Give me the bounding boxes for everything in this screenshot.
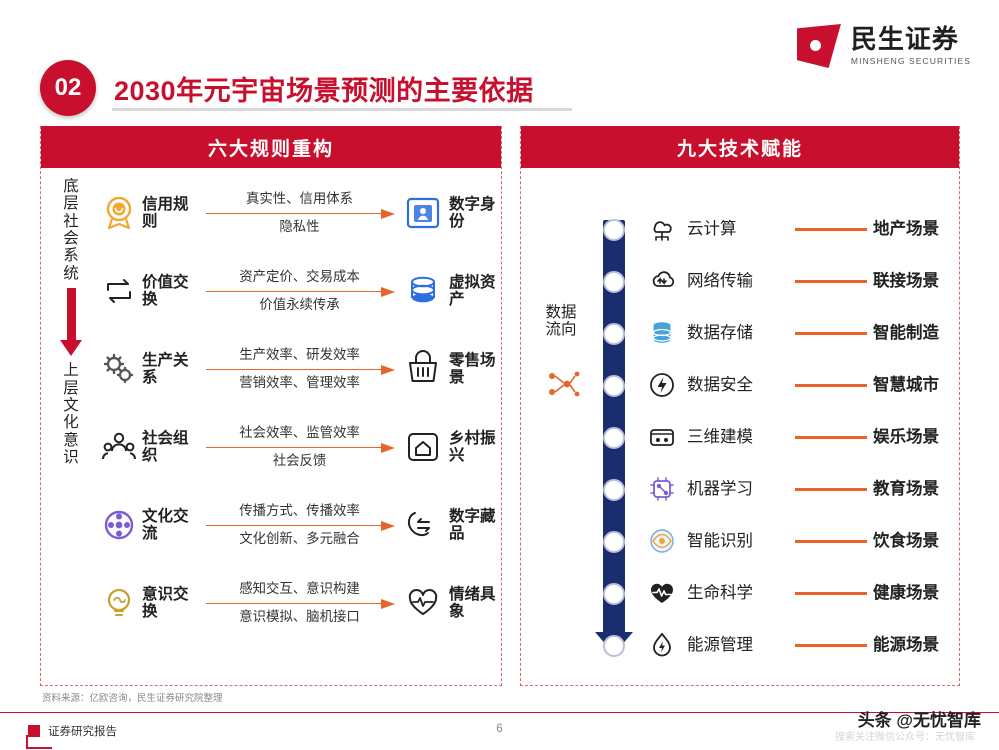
arrow-icon xyxy=(204,599,395,608)
rule-output-name: 乡村振兴 xyxy=(449,430,497,465)
basket-icon xyxy=(401,349,445,389)
connector-line xyxy=(795,332,867,335)
scene-name: 能源场景 xyxy=(873,631,939,655)
rule-name: 意识交换 xyxy=(142,586,198,621)
connector-line xyxy=(795,436,867,439)
connector-line xyxy=(795,228,867,231)
connector-line xyxy=(795,280,867,283)
arrow-icon xyxy=(204,365,395,374)
rule-detail: 真实性、信用体系 隐私性 xyxy=(198,191,401,236)
scene-name: 联接场景 xyxy=(873,267,939,291)
rule-detail: 资产定价、交易成本 价值永续传承 xyxy=(198,269,401,314)
technology-list: 云计算 地产场景 网络传输 联接场景 xyxy=(521,204,959,672)
title-underline xyxy=(112,108,572,111)
rule-row: 意识交换 感知交互、意识构建 意识模拟、脑机接口 情绪具象 xyxy=(99,564,497,642)
technology-name: 数据存储 xyxy=(687,319,753,343)
rule-name: 信用规则 xyxy=(142,196,198,231)
digital-id-icon xyxy=(401,193,445,233)
technology-name: 三维建模 xyxy=(687,423,753,447)
rule-detail-bottom: 文化创新、多元融合 xyxy=(204,531,395,548)
home-icon xyxy=(401,427,445,467)
rule-detail: 感知交互、意识构建 意识模拟、脑机接口 xyxy=(198,581,401,626)
down-arrow-icon xyxy=(60,288,82,356)
right-panel-heading: 九大技术赋能 xyxy=(521,126,959,168)
eye-scan-icon xyxy=(645,524,679,558)
database-icon xyxy=(645,316,679,350)
rule-row: 信用规则 真实性、信用体系 隐私性 数字身份 xyxy=(99,174,497,252)
technology-row: 三维建模 娱乐场景 xyxy=(521,412,959,464)
flow-node xyxy=(603,635,625,657)
connector-line xyxy=(795,592,867,595)
rule-row: 文化交流 传播方式、传播效率 文化创新、多元融合 数字藏品 xyxy=(99,486,497,564)
rule-name: 生产关系 xyxy=(142,352,198,387)
connector-line xyxy=(795,540,867,543)
rule-row: 价值交换 资产定价、交易成本 价值永续传承 xyxy=(99,252,497,330)
technology-name: 智能识别 xyxy=(687,527,753,551)
rule-detail-bottom: 社会反馈 xyxy=(204,453,395,470)
rule-output-name: 虚拟资产 xyxy=(449,274,497,309)
left-panel-heading: 六大规则重构 xyxy=(41,126,501,168)
technology-name: 能源管理 xyxy=(687,631,753,655)
shield-bolt-icon xyxy=(645,368,679,402)
source-note: 资料来源：亿欧咨询，民生证券研究院整理 xyxy=(42,690,223,704)
rule-detail: 社会效率、监管效率 社会反馈 xyxy=(198,425,401,470)
heartbeat-icon xyxy=(645,576,679,610)
technology-name: 生命科学 xyxy=(687,579,753,603)
left-panel-body: 底层社会系统 上层文化意识 xyxy=(41,168,501,684)
machine-learning-icon xyxy=(645,472,679,506)
technology-name: 数据安全 xyxy=(687,371,753,395)
technology-row: 机器学习 教育场景 xyxy=(521,464,959,516)
rule-detail: 生产效率、研发效率 营销效率、管理效率 xyxy=(198,347,401,392)
flow-node xyxy=(603,323,625,345)
rule-detail-bottom: 营销效率、管理效率 xyxy=(204,375,395,392)
company-logo: 民生证券 MINSHENG SECURITIES xyxy=(797,24,971,68)
rule-output-name: 数字身份 xyxy=(449,196,497,231)
rule-row: 生产关系 生产效率、研发效率 营销效率、管理效率 零售场景 xyxy=(99,330,497,408)
scene-name: 智慧城市 xyxy=(873,371,939,395)
rule-name: 价值交换 xyxy=(142,274,198,309)
corner-decoration xyxy=(26,735,52,749)
people-icon xyxy=(99,427,139,467)
cloud-compute-icon xyxy=(645,212,679,246)
scene-name: 娱乐场景 xyxy=(873,423,939,447)
rule-detail-top: 感知交互、意识构建 xyxy=(204,581,395,598)
slide-root: 民生证券 MINSHENG SECURITIES 02 2030年元宇宙场景预测… xyxy=(0,0,999,750)
right-panel: 九大技术赋能 数据流向 xyxy=(520,126,960,686)
watermark-sub: 搜索关注微信公众号：无忧智库 xyxy=(835,728,975,743)
rule-detail-bottom: 意识模拟、脑机接口 xyxy=(204,609,395,626)
flow-node xyxy=(603,531,625,553)
brain-bulb-icon xyxy=(99,583,139,623)
rule-detail-top: 真实性、信用体系 xyxy=(204,191,395,208)
rule-output-name: 零售场景 xyxy=(449,352,497,387)
coins-icon xyxy=(401,271,445,311)
axis-top-label: 底层社会系统 xyxy=(61,178,81,282)
3d-model-icon xyxy=(645,420,679,454)
technology-row: 云计算 地产场景 xyxy=(521,204,959,256)
axis-bottom-label: 上层文化意识 xyxy=(61,362,81,466)
left-panel: 六大规则重构 底层社会系统 上层文化意识 xyxy=(40,126,502,686)
rule-row: 社会组织 社会效率、监管效率 社会反馈 乡村振兴 xyxy=(99,408,497,486)
flow-node xyxy=(603,271,625,293)
technology-row: 数据存储 智能制造 xyxy=(521,308,959,360)
logo-text-en: MINSHENG SECURITIES xyxy=(851,56,971,66)
heart-pulse-icon xyxy=(401,583,445,623)
rule-detail-top: 生产效率、研发效率 xyxy=(204,347,395,364)
flow-node xyxy=(603,375,625,397)
flow-node xyxy=(603,479,625,501)
technology-row: 能源管理 能源场景 xyxy=(521,620,959,672)
rule-detail-top: 社会效率、监管效率 xyxy=(204,425,395,442)
scene-name: 智能制造 xyxy=(873,319,939,343)
rule-detail: 传播方式、传播效率 文化创新、多元融合 xyxy=(198,503,401,548)
gears-icon xyxy=(99,349,139,389)
rule-detail-top: 资产定价、交易成本 xyxy=(204,269,395,286)
rule-output-name: 情绪具象 xyxy=(449,586,497,621)
scene-name: 教育场景 xyxy=(873,475,939,499)
energy-drop-icon xyxy=(645,628,679,662)
arrow-icon xyxy=(204,443,395,452)
film-reel-icon xyxy=(99,505,139,545)
rule-detail-bottom: 隐私性 xyxy=(204,219,395,236)
arrow-icon xyxy=(204,521,395,530)
scene-name: 健康场景 xyxy=(873,579,939,603)
medal-icon xyxy=(99,193,139,233)
connector-line xyxy=(795,384,867,387)
minsheng-logo-icon xyxy=(797,24,841,68)
rule-name: 社会组织 xyxy=(142,430,198,465)
technology-row: 网络传输 联接场景 xyxy=(521,256,959,308)
connector-line xyxy=(795,488,867,491)
technology-row: 智能识别 饮食场景 xyxy=(521,516,959,568)
rule-detail-bottom: 价值永续传承 xyxy=(204,297,395,314)
rule-name: 文化交流 xyxy=(142,508,198,543)
cloud-transfer-icon xyxy=(645,264,679,298)
technology-name: 网络传输 xyxy=(687,267,753,291)
rule-detail-top: 传播方式、传播效率 xyxy=(204,503,395,520)
scene-name: 饮食场景 xyxy=(873,527,939,551)
exchange-icon xyxy=(99,271,139,311)
arrow-icon xyxy=(204,209,395,218)
social-system-axis: 底层社会系统 上层文化意识 xyxy=(47,178,95,674)
technology-row: 生命科学 健康场景 xyxy=(521,568,959,620)
section-number-badge: 02 xyxy=(40,60,96,116)
connector-line xyxy=(795,644,867,647)
logo-text-cn: 民生证券 xyxy=(851,26,971,52)
flow-node xyxy=(603,583,625,605)
flow-node xyxy=(603,219,625,241)
arrow-icon xyxy=(204,287,395,296)
technology-row: 数据安全 智慧城市 xyxy=(521,360,959,412)
rule-output-name: 数字藏品 xyxy=(449,508,497,543)
scene-name: 地产场景 xyxy=(873,215,939,239)
right-panel-body: 数据流向 云计算 地产场景 xyxy=(521,168,959,684)
flow-node xyxy=(603,427,625,449)
page-title: 2030年元宇宙场景预测的主要依据 xyxy=(114,69,534,108)
technology-name: 云计算 xyxy=(687,215,737,239)
rules-list: 信用规则 真实性、信用体系 隐私性 数字身份 xyxy=(99,174,497,642)
technology-name: 机器学习 xyxy=(687,475,753,499)
nft-swap-icon xyxy=(401,505,445,545)
